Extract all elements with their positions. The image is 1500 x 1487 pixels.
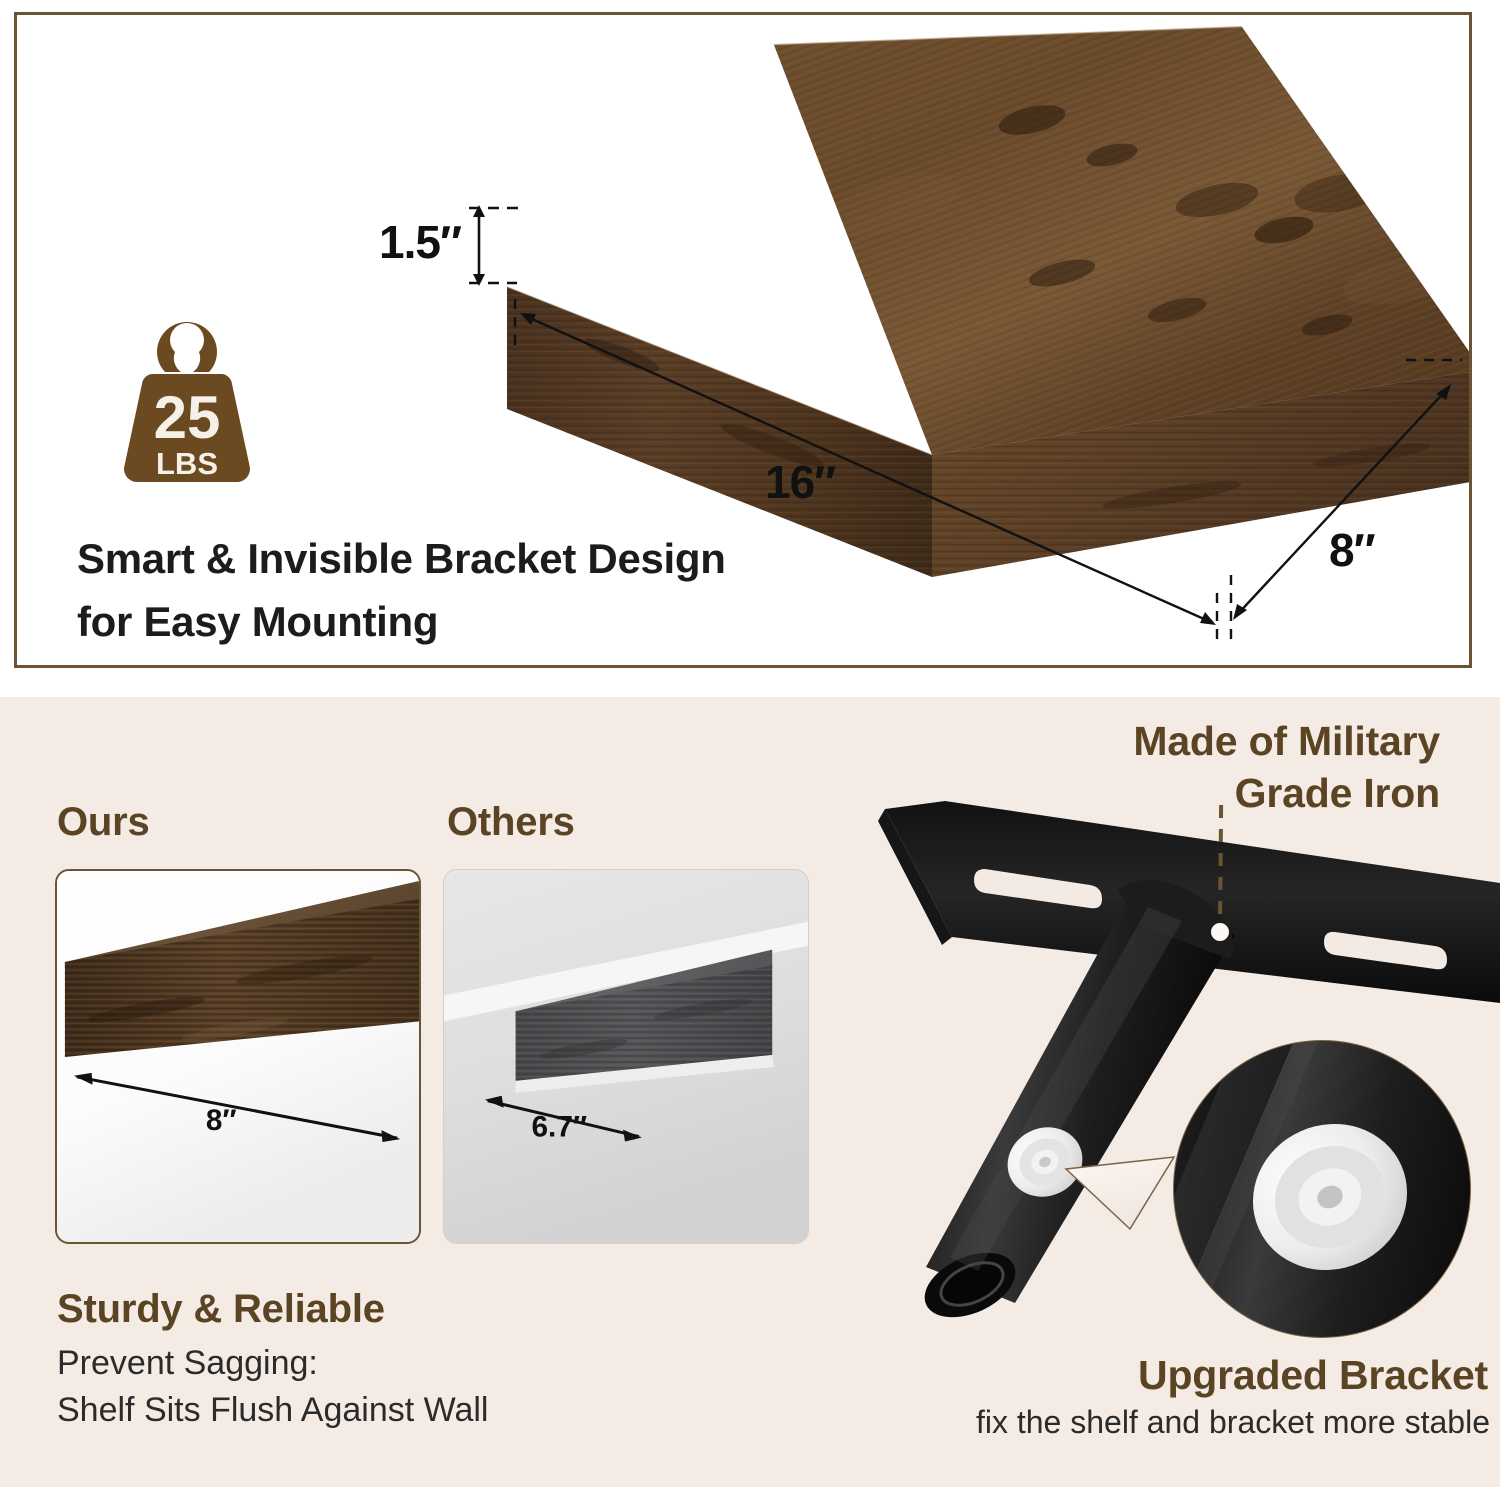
leader-line-military bbox=[1220, 797, 1222, 925]
sturdy-line-2: Shelf Sits Flush Against Wall bbox=[57, 1387, 677, 1434]
badge-unit: LBS bbox=[156, 446, 218, 481]
weight-capacity-badge: 25 LBS bbox=[117, 320, 257, 495]
sturdy-title: Sturdy & Reliable bbox=[57, 1287, 385, 1332]
others-dimension-label: 6.7″ bbox=[531, 1111, 587, 1144]
upgraded-bracket-title: Upgraded Bracket bbox=[860, 1352, 1488, 1399]
infographic-root: 1.5″ 16″ 8″ 25 LBS Smart & Invisible Bra… bbox=[0, 0, 1500, 1487]
comparison-label-others: Others bbox=[447, 800, 575, 845]
top-panel: 1.5″ 16″ 8″ 25 LBS Smart & Invisible Bra… bbox=[14, 12, 1472, 668]
sturdy-line-1: Prevent Sagging: bbox=[57, 1340, 677, 1387]
ours-dimension-label: 8″ bbox=[206, 1104, 237, 1137]
comparison-card-others: 6.7″ bbox=[443, 869, 809, 1244]
dimension-width-label: 16″ bbox=[765, 455, 835, 509]
headline-line-2: for Easy Mounting bbox=[77, 590, 897, 653]
screw-hole bbox=[1211, 923, 1229, 941]
page-headline: Smart & Invisible Bracket Design for Eas… bbox=[77, 527, 897, 653]
sturdy-body: Prevent Sagging: Shelf Sits Flush Agains… bbox=[57, 1340, 677, 1434]
badge-value: 25 bbox=[154, 384, 221, 451]
dimension-depth-label: 8″ bbox=[1329, 523, 1375, 577]
dimension-thickness-label: 1.5″ bbox=[379, 215, 461, 269]
comparison-card-ours: 8″ bbox=[55, 869, 421, 1244]
headline-line-1: Smart & Invisible Bracket Design bbox=[77, 527, 897, 590]
comparison-label-ours: Ours bbox=[57, 800, 150, 845]
military-line-1: Made of Military bbox=[900, 715, 1440, 767]
bottom-panel: Ours Others bbox=[0, 697, 1500, 1487]
upgraded-bracket-subtitle: fix the shelf and bracket more stable bbox=[800, 1404, 1490, 1441]
bracket-illustration bbox=[830, 797, 1500, 1367]
